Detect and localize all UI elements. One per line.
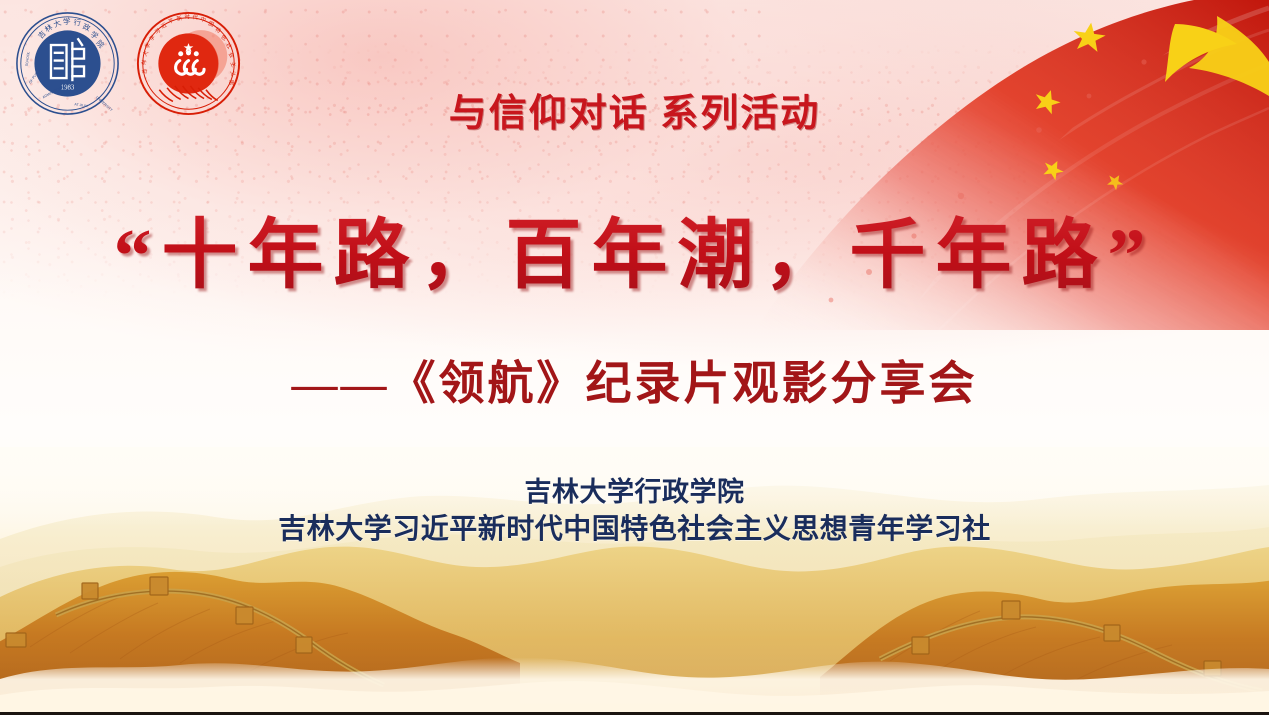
svg-text:政: 政	[81, 22, 92, 33]
main-title: “十年路，百年潮，千年路”	[0, 193, 1269, 303]
svg-text:会: 会	[227, 51, 237, 60]
organizer-block: 吉林大学行政学院 吉林大学习近平新时代中国特色社会主义思想青年学习社	[0, 475, 1269, 548]
svg-text:吉: 吉	[141, 67, 149, 74]
jilin-university-school-of-public-administration-logo: 1983 吉 林 大 学 行 政 学 院 SCHOOL OF PUBLIC AD…	[14, 10, 121, 117]
svg-text:大: 大	[52, 18, 63, 29]
svg-text:学: 学	[62, 16, 71, 26]
svg-text:行: 行	[73, 18, 82, 28]
svg-text:AT JILIN: AT JILIN	[74, 102, 88, 108]
poster-canvas: 1983 吉 林 大 学 行 政 学 院 SCHOOL OF PUBLIC AD…	[0, 0, 1269, 715]
svg-text:习: 习	[153, 27, 162, 36]
svg-text:国: 国	[207, 20, 215, 29]
sub-title: ——《领航》纪录片观影分享会	[0, 347, 1269, 413]
youth-study-society-logo: 吉 林 大 学 学 习 近 平 新 时 代 中 国 特 色 社 会	[135, 10, 242, 117]
organizer-line-2: 吉林大学习近平新时代中国特色社会主义思想青年学习社	[0, 511, 1269, 548]
logo-group: 1983 吉 林 大 学 行 政 学 院 SCHOOL OF PUBLIC AD…	[14, 10, 242, 117]
svg-text:林: 林	[139, 58, 149, 66]
svg-text:SCHOOL: SCHOOL	[25, 51, 31, 66]
svg-text:平: 平	[167, 17, 175, 26]
svg-text:主: 主	[228, 60, 238, 69]
organizer-line-1: 吉林大学行政学院	[0, 475, 1269, 511]
